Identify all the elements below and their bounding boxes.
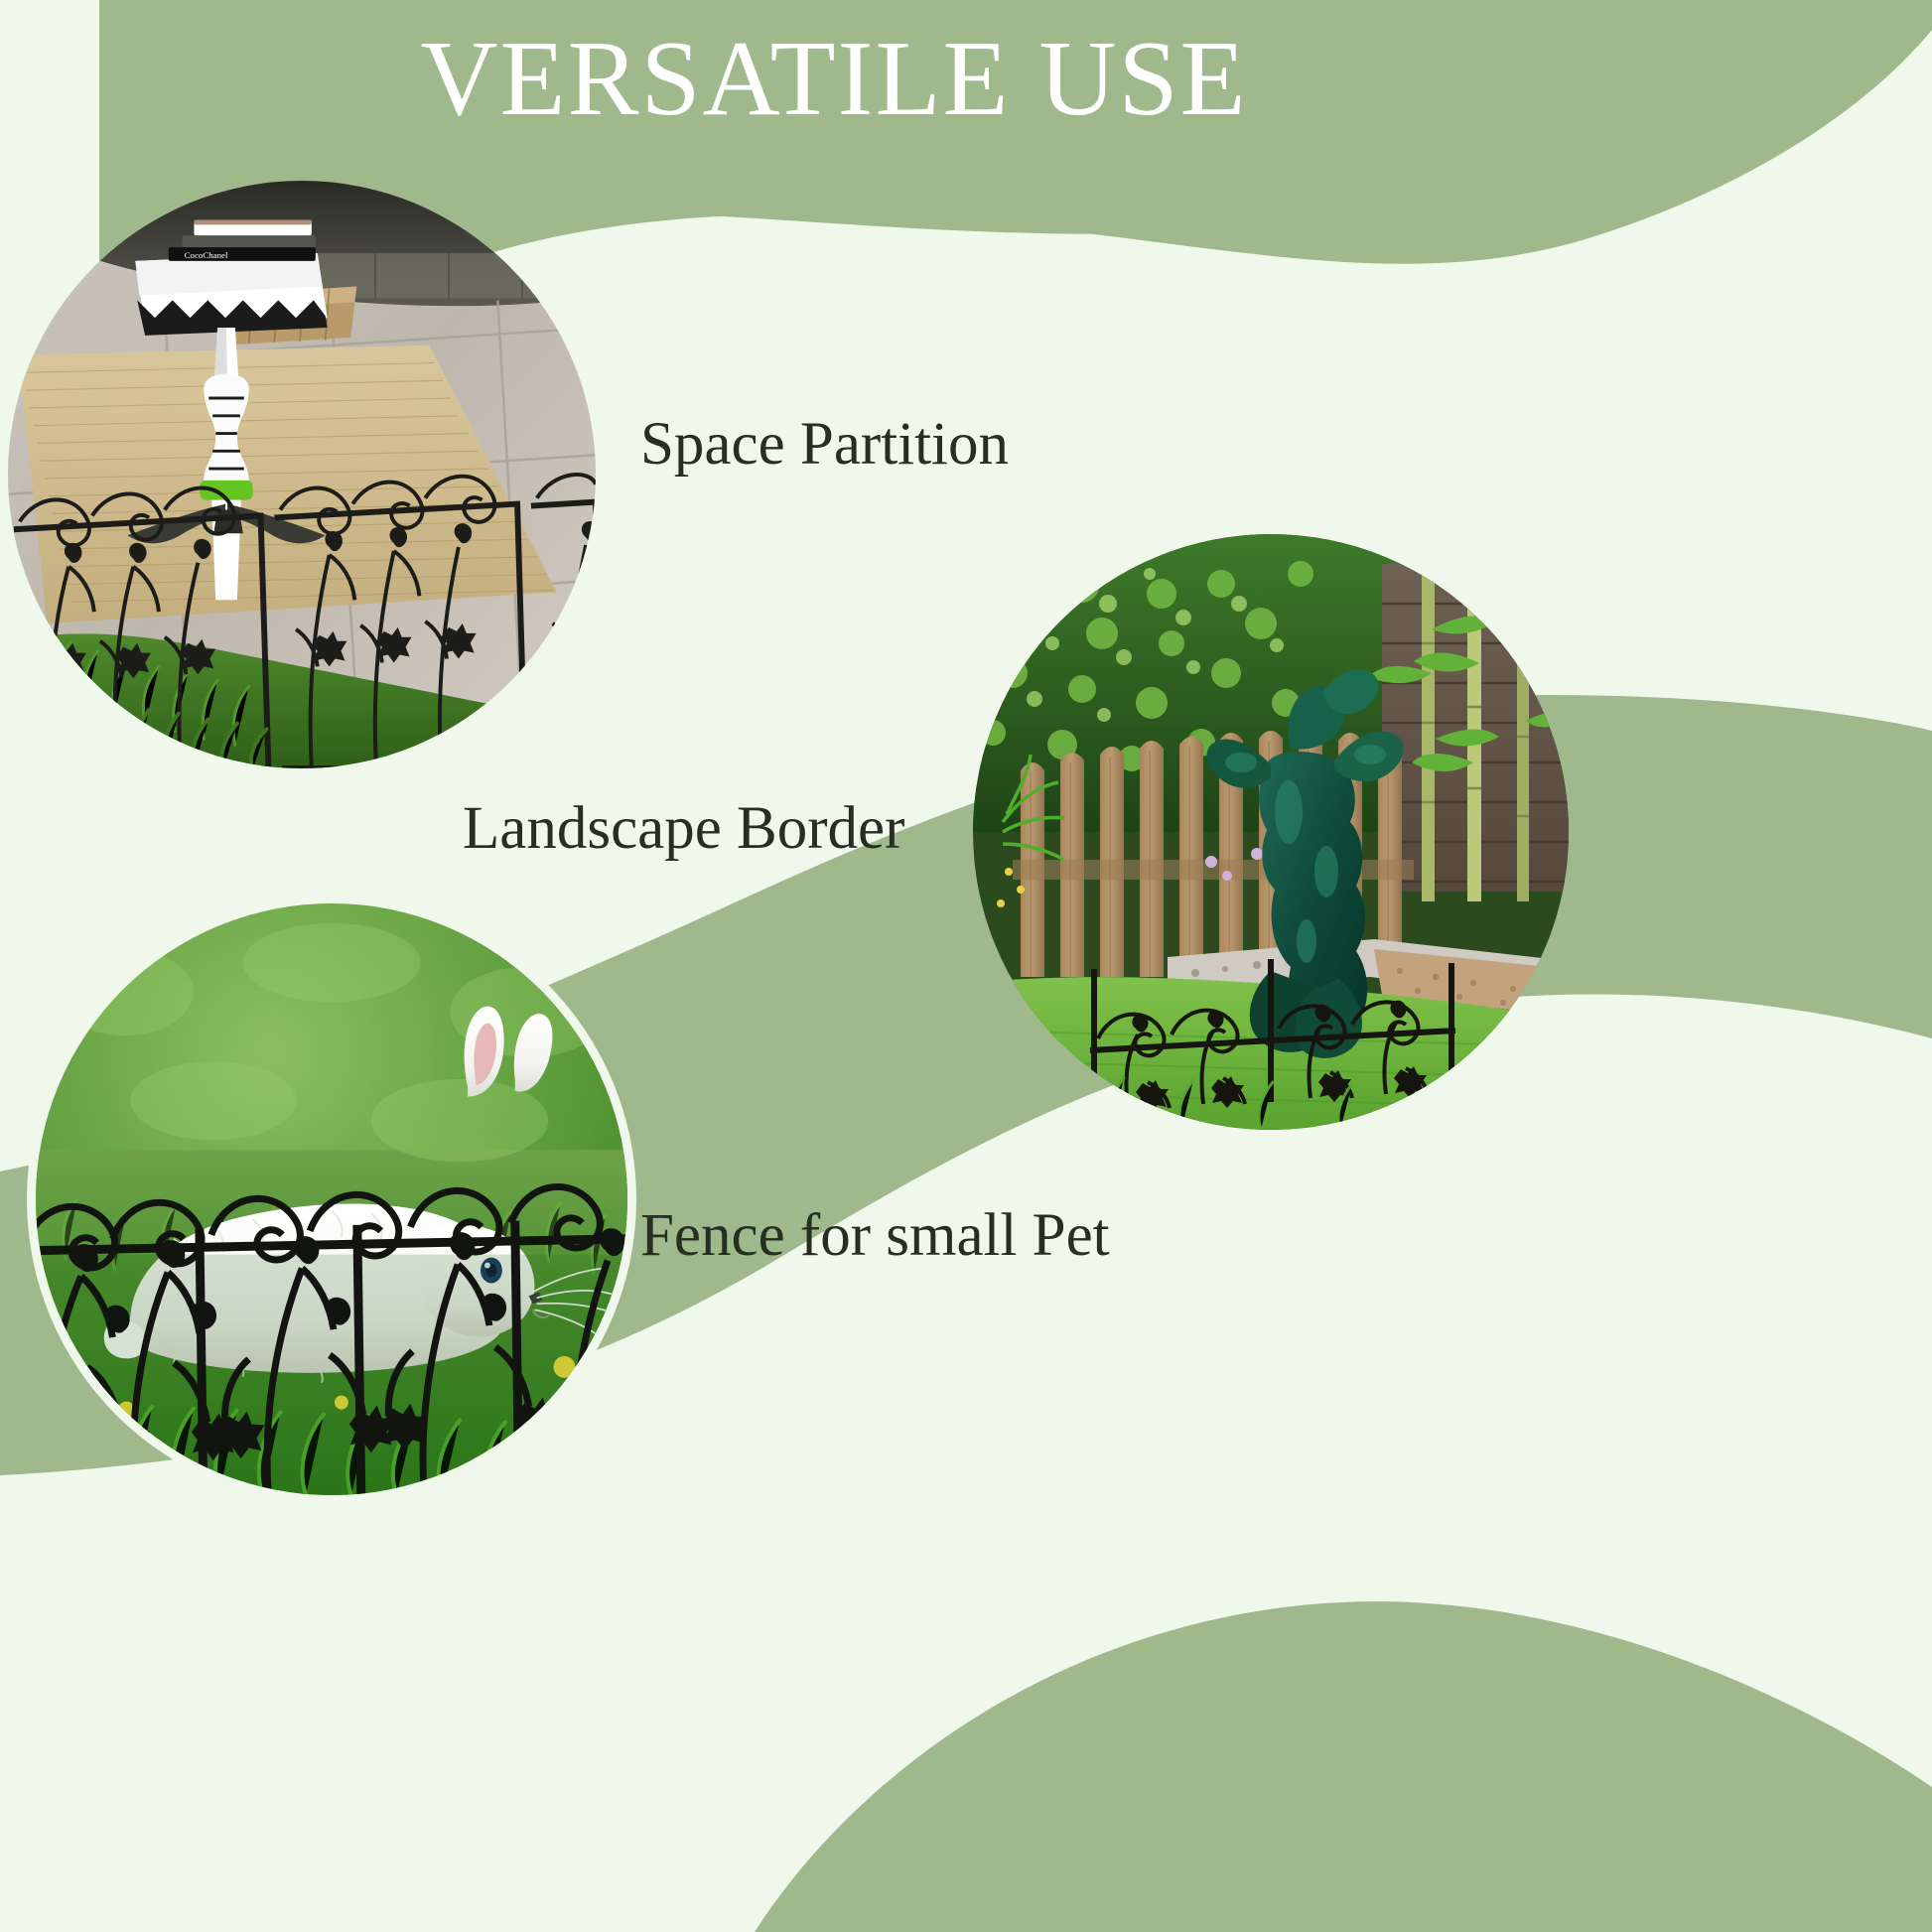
- rabbit-scene-illustration: [36, 903, 627, 1495]
- patio-scene-illustration: CocoChanel: [8, 181, 596, 768]
- bottom-right-hill-shape: [755, 1601, 1932, 1932]
- photo-landscape-border: [973, 534, 1569, 1130]
- label-landscape-border: Landscape Border: [463, 794, 904, 864]
- photo-fence-for-small-pet: [36, 903, 627, 1495]
- label-fence-for-small-pet: Fence for small Pet: [640, 1201, 1110, 1271]
- label-space-partition: Space Partition: [640, 410, 1009, 480]
- page-title: VERSATILE USE: [0, 18, 1668, 141]
- infographic-canvas: VERSATILE USE: [0, 0, 1932, 1932]
- garden-frog-scene-illustration: [973, 534, 1569, 1130]
- photo-space-partition: CocoChanel: [8, 181, 596, 768]
- svg-text:CocoChanel: CocoChanel: [185, 250, 228, 260]
